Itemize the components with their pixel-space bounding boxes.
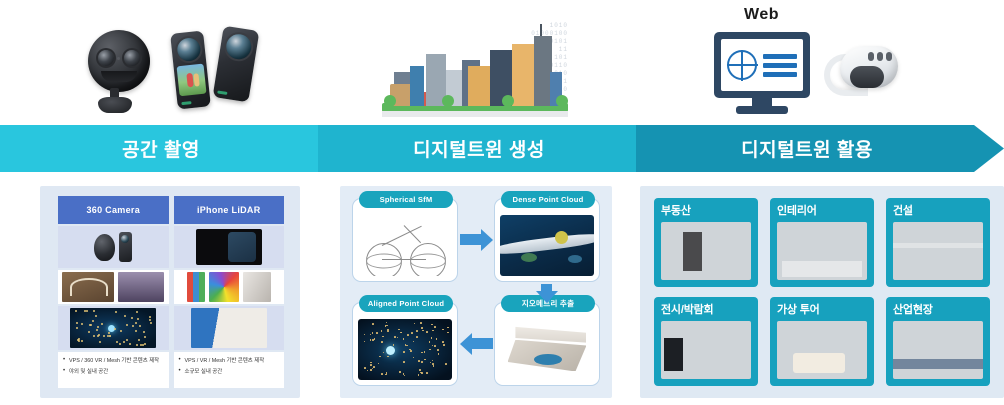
point-node: [381, 341, 383, 343]
point-node: [372, 332, 374, 334]
point-node: [419, 369, 421, 371]
point-node: [430, 362, 432, 364]
point-node: [386, 325, 388, 327]
note-item: 소규모 실내 공간: [178, 368, 281, 376]
cloud-hub-node: [386, 346, 395, 355]
point-node: [129, 343, 131, 345]
banner-step-label: 디지털트윈 활용: [741, 135, 873, 162]
point-node: [421, 327, 423, 329]
point-node: [436, 338, 438, 340]
city-road: [382, 111, 568, 117]
screen-subject-b: [193, 73, 199, 86]
shop-interior-photo: [118, 272, 164, 302]
node-visual: [500, 215, 594, 276]
point-node: [433, 365, 435, 367]
lidar-room-mesh: [191, 308, 267, 348]
point-node: [418, 374, 420, 376]
arrow-dense-to-geometry: [541, 284, 552, 292]
exhibition-hall-photo: [661, 321, 751, 379]
usecase-label: 인테리어: [777, 204, 867, 218]
room-scan-photo: [243, 272, 271, 302]
diagram-canvas: 1010 01000100 00101 11 101 0110 1010 010…: [0, 0, 1004, 405]
point-node: [378, 363, 380, 365]
thumb-cell: [174, 306, 285, 350]
handheld-camera-screen: [177, 64, 207, 97]
point-node: [424, 359, 426, 361]
point-node: [426, 331, 428, 333]
point-node: [393, 344, 395, 346]
point-node: [405, 344, 407, 346]
usecase-card-realestate[interactable]: 부동산: [654, 198, 758, 287]
panel-capture: 360 Camera VPS / 360 VR / Mesh 기반 콘: [40, 186, 300, 398]
usecase-card-construction[interactable]: 건설: [886, 198, 990, 287]
point-node: [370, 369, 372, 371]
point-node: [400, 332, 402, 334]
point-node: [99, 341, 101, 343]
node-label: Aligned Point Cloud: [359, 295, 453, 312]
banner-step-label: 디지털트윈 생성: [413, 135, 545, 162]
point-node: [386, 322, 388, 324]
point-node: [421, 352, 423, 354]
point-node: [429, 349, 431, 351]
point-node: [414, 323, 416, 325]
arrow-sfm-to-dense: [460, 234, 482, 245]
note-item: VPS / 360 VR / Mesh 기반 콘텐츠 제작: [62, 357, 165, 365]
point-node: [422, 330, 424, 332]
usecase-card-exhibition[interactable]: 전시/박람회: [654, 297, 758, 386]
construction-site-photo: [893, 222, 983, 280]
process-banner: 공간 촬영 디지털트윈 생성 디지털트윈 활용: [0, 125, 1004, 172]
point-node: [75, 310, 77, 312]
point-node: [447, 332, 449, 334]
point-node: [92, 320, 94, 322]
point-node: [382, 336, 384, 338]
point-node: [149, 319, 151, 321]
point-node: [119, 343, 121, 345]
living-room-design-photo: [777, 222, 867, 280]
pipeline-node-aligned[interactable]: Aligned Point Cloud: [352, 302, 458, 386]
point-node: [403, 351, 405, 353]
point-node: [432, 360, 434, 362]
vps-node-graph-map: [70, 308, 156, 348]
antenna: [540, 24, 542, 36]
usecase-label: 건설: [893, 204, 983, 218]
vr-headset-icon: [822, 40, 900, 102]
point-node: [432, 330, 434, 332]
point-node: [364, 367, 366, 369]
point-node: [421, 361, 423, 363]
point-node: [383, 352, 385, 354]
point-node: [431, 337, 433, 339]
point-node: [416, 330, 418, 332]
point-node: [376, 332, 378, 334]
headset-sensor: [886, 52, 892, 61]
column-header: 360 Camera: [58, 196, 169, 224]
point-node: [387, 356, 389, 358]
insta360-pro-sphere-camera: [88, 30, 150, 92]
point-node: [139, 325, 141, 327]
node-label: Dense Point Cloud: [501, 191, 595, 208]
column-header: iPhone LiDAR: [174, 196, 285, 224]
point-node: [437, 349, 439, 351]
point-node: [398, 329, 400, 331]
node-visual: [358, 215, 452, 276]
camera-lens-right-icon: [124, 50, 140, 66]
color-chart-photo: [187, 272, 205, 302]
iphone-pro-lidar-photo: [196, 229, 262, 265]
industrial-machinery-photo: [893, 321, 983, 379]
point-node: [424, 351, 426, 353]
point-cloud-blob: [521, 253, 537, 262]
point-node: [136, 344, 138, 346]
point-node: [135, 330, 137, 332]
point-node: [374, 338, 376, 340]
point-node: [403, 361, 405, 363]
point-node: [429, 341, 431, 343]
pipeline-node-dense[interactable]: Dense Point Cloud: [494, 198, 600, 282]
handheld-camera-lens-icon: [224, 32, 253, 61]
top-imagery-row: 1010 01000100 00101 11 101 0110 1010 010…: [0, 0, 1004, 122]
point-node: [399, 372, 401, 374]
point-node: [108, 332, 110, 334]
point-node: [123, 341, 125, 343]
point-node: [442, 341, 444, 343]
handheld-360-camera-photo: [119, 232, 132, 262]
point-node: [149, 316, 151, 318]
point-node: [413, 357, 415, 359]
point-node: [144, 343, 146, 345]
point-node: [103, 335, 105, 337]
apartment-interior-photo: [661, 222, 751, 280]
usecase-card-grid: 부동산 인테리어 건설 전시/박람회 가상 투어 산업현장: [654, 198, 990, 386]
point-node: [364, 334, 366, 336]
point-node: [445, 363, 447, 365]
building: [468, 66, 490, 106]
point-node: [397, 337, 399, 339]
point-node: [406, 345, 408, 347]
point-node: [86, 310, 88, 312]
point-node: [426, 372, 428, 374]
tree: [502, 95, 514, 107]
dense-point-cloud-render: [500, 215, 594, 276]
point-node: [115, 311, 117, 313]
pipeline-node-geometry[interactable]: 지오메트리 추출: [494, 302, 600, 386]
point-cloud-blob: [568, 255, 582, 263]
node-visual: [358, 319, 452, 380]
point-node: [81, 323, 83, 325]
point-node: [138, 339, 140, 341]
tree: [442, 95, 454, 107]
desktop-monitor-icon: [714, 32, 810, 98]
point-node: [78, 340, 80, 342]
point-node: [442, 329, 444, 331]
point-node: [421, 372, 423, 374]
point-node: [432, 363, 434, 365]
handheld-camera-lens-icon: [176, 37, 201, 62]
point-node: [404, 375, 406, 377]
camera-brand-mark: [217, 90, 227, 95]
banner-step-capture[interactable]: 공간 촬영: [0, 125, 348, 172]
headset-sensor: [868, 52, 874, 61]
point-node: [88, 331, 90, 333]
point-node: [126, 339, 128, 341]
thumb-cell: [174, 270, 285, 304]
point-node: [410, 350, 412, 352]
point-node: [372, 323, 374, 325]
point-node: [385, 374, 387, 376]
color-cube-render: [209, 272, 239, 302]
point-node: [431, 324, 433, 326]
column-notes: VPS / 360 VR / Mesh 기반 콘텐츠 제작 야외 및 실내 공간: [58, 352, 169, 388]
point-node: [372, 368, 374, 370]
comparison-column-360: 360 Camera VPS / 360 VR / Mesh 기반 콘: [58, 196, 169, 388]
panel-pipeline: Spherical SfM Dense Point Cloud: [340, 186, 612, 398]
panel-usecases: 부동산 인테리어 건설 전시/박람회 가상 투어 산업현장: [640, 186, 1004, 398]
aligned-point-cloud-render: [358, 319, 452, 380]
hotel-room-photo: [777, 321, 867, 379]
building: [512, 44, 536, 106]
camera-lower-lens-band: [101, 71, 137, 82]
globe-network-icon: [727, 50, 757, 80]
point-cloud-road: [500, 231, 594, 257]
point-node: [438, 353, 440, 355]
comparison-column-lidar: iPhone LiDAR VPS / VR / Mesh 기반 콘텐츠 제작 소…: [174, 196, 285, 388]
360-sphere-camera-photo: [94, 234, 115, 261]
web-and-vr-group: Web: [700, 6, 900, 122]
usecase-card-interior[interactable]: 인테리어: [770, 198, 874, 287]
360-camera-cluster-icon: [78, 14, 283, 114]
point-node: [373, 366, 375, 368]
point-node: [150, 322, 152, 324]
point-node: [144, 336, 146, 338]
point-node: [413, 341, 415, 343]
banner-step-label: 공간 촬영: [122, 135, 200, 162]
point-node: [98, 334, 100, 336]
point-node: [367, 370, 369, 372]
usecase-label: 산업현장: [893, 303, 983, 317]
point-node: [76, 322, 78, 324]
point-node: [140, 344, 142, 346]
usecase-card-virtualtour[interactable]: 가상 투어: [770, 297, 874, 386]
point-node: [407, 334, 409, 336]
point-node: [95, 315, 97, 317]
usecase-label: 부동산: [661, 204, 751, 218]
point-node: [379, 356, 381, 358]
panorama-interior-photo: [62, 272, 114, 302]
tree: [384, 95, 396, 107]
monitor-foot: [736, 106, 788, 114]
point-node: [90, 324, 92, 326]
banner-step-utilize[interactable]: 디지털트윈 활용: [636, 125, 1004, 172]
point-node: [124, 315, 126, 317]
point-node: [387, 331, 389, 333]
point-node: [409, 349, 411, 351]
room-geometry-mesh-render: [500, 319, 594, 380]
note-item: VPS / VR / Mesh 기반 콘텐츠 제작: [178, 357, 281, 365]
point-node: [447, 327, 449, 329]
camera-base: [98, 97, 132, 113]
tree: [556, 95, 568, 107]
camera-pose-sphere-diagram: [358, 215, 452, 276]
point-node: [381, 330, 383, 332]
monitor-screen: [721, 39, 803, 91]
thumb-cell: [58, 306, 169, 350]
point-node: [370, 364, 372, 366]
camera-indicator-dot: [117, 57, 120, 60]
point-node: [131, 317, 133, 319]
point-node: [370, 362, 372, 364]
camera-lens-left-icon: [98, 50, 114, 66]
smart-city-skyline-icon: 1010 01000100 00101 11 101 0110 1010 010…: [382, 22, 568, 122]
content-lines: [763, 54, 797, 77]
pose-edge: [382, 226, 422, 246]
point-node: [411, 332, 413, 334]
headset-sensor: [877, 52, 883, 61]
point-node: [394, 336, 396, 338]
insta360-one-handheld-camera: [213, 26, 260, 103]
thumb-cell: [58, 270, 169, 304]
point-node: [416, 336, 418, 338]
point-node: [434, 326, 436, 328]
point-node: [76, 327, 78, 329]
point-node: [81, 340, 83, 342]
point-node: [132, 325, 134, 327]
point-node: [135, 322, 137, 324]
headset-facepad: [850, 66, 884, 88]
pipeline-node-sfm[interactable]: Spherical SfM: [352, 198, 458, 282]
point-node: [114, 328, 116, 330]
usecase-card-industry[interactable]: 산업현장: [886, 297, 990, 386]
pipeline-flow-diagram: Spherical SfM Dense Point Cloud: [352, 196, 600, 388]
usecase-label: 전시/박람회: [661, 303, 751, 317]
point-node: [403, 338, 405, 340]
point-cloud-blob: [555, 231, 568, 244]
point-node: [443, 344, 445, 346]
thumb-cell: [174, 226, 285, 268]
point-node: [418, 360, 420, 362]
point-node: [370, 334, 372, 336]
point-node: [97, 326, 99, 328]
point-node: [137, 318, 139, 320]
building: [410, 66, 424, 106]
usecase-label: 가상 투어: [777, 303, 867, 317]
web-label: Web: [744, 6, 779, 24]
point-node: [93, 335, 95, 337]
point-node: [109, 335, 111, 337]
point-node: [434, 345, 436, 347]
point-node: [420, 322, 422, 324]
device-comparison-table: 360 Camera VPS / 360 VR / Mesh 기반 콘: [58, 196, 284, 388]
column-notes: VPS / VR / Mesh 기반 콘텐츠 제작 소규모 실내 공간: [174, 352, 285, 388]
point-node: [126, 324, 128, 326]
insta360-x-handheld-camera: [170, 30, 211, 109]
point-node: [101, 323, 103, 325]
point-node: [364, 341, 366, 343]
point-node: [96, 329, 98, 331]
arrow-geometry-to-aligned: [471, 338, 493, 349]
point-node: [143, 331, 145, 333]
node-visual: [500, 319, 594, 380]
banner-step-create[interactable]: 디지털트윈 생성: [318, 125, 666, 172]
node-label: Spherical SfM: [359, 191, 453, 208]
camera-brand-mark: [181, 101, 191, 105]
point-node: [381, 373, 383, 375]
thumb-cell: [58, 226, 169, 268]
note-item: 야외 및 실내 공간: [62, 368, 165, 376]
point-node: [136, 311, 138, 313]
point-node: [120, 330, 122, 332]
pose-edge: [382, 259, 426, 260]
point-node: [93, 310, 95, 312]
